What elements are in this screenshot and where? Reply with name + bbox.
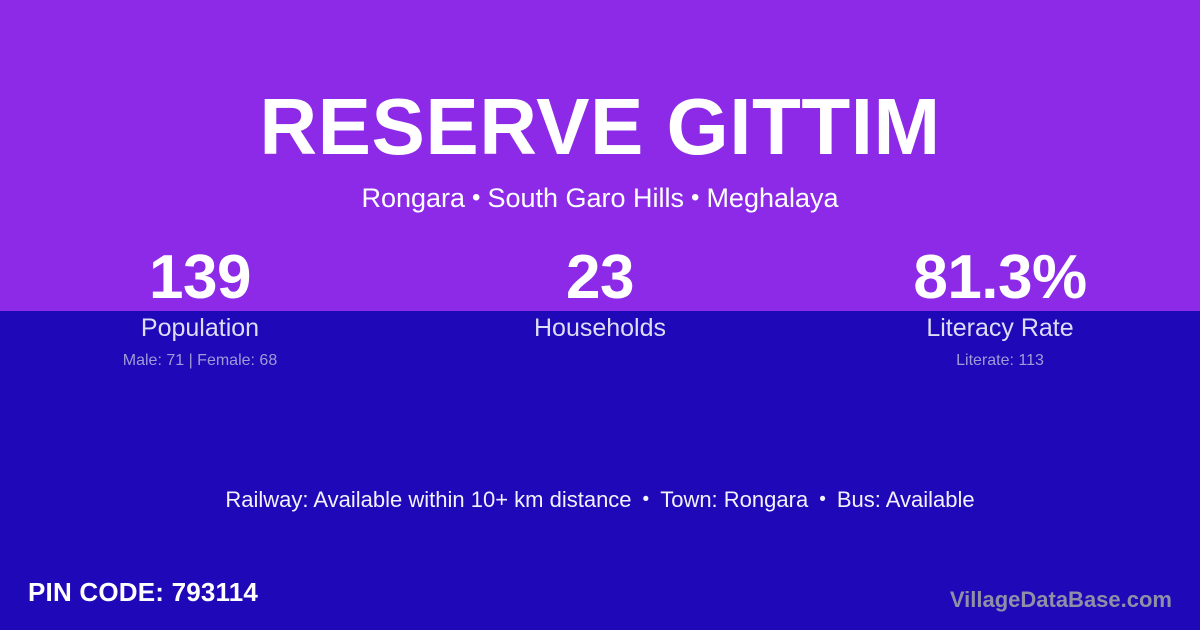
stat-population: 139 Population Male: 71 | Female: 68 <box>0 246 400 371</box>
facility-railway: Railway: Available within 10+ km distanc… <box>225 487 631 512</box>
stat-population-value: 139 <box>0 246 400 310</box>
brand-watermark: VillageDataBase.com <box>950 586 1172 614</box>
location-breadcrumb: Rongara•South Garo Hills•Meghalaya <box>0 181 1200 217</box>
stat-literacy: 81.3% Literacy Rate Literate: 113 <box>800 246 1200 371</box>
stat-population-label: Population <box>0 313 400 343</box>
stats-row: 139 Population Male: 71 | Female: 68 23 … <box>0 246 1200 371</box>
breadcrumb-district: South Garo Hills <box>487 183 684 213</box>
village-info-card: RESERVE GITTIM Rongara•South Garo Hills•… <box>0 0 1200 630</box>
page-title: RESERVE GITTIM <box>0 84 1200 170</box>
stat-households-detail <box>400 351 800 371</box>
stat-literacy-value: 81.3% <box>800 246 1200 310</box>
facilities-line: Railway: Available within 10+ km distanc… <box>0 486 1200 516</box>
stat-households: 23 Households <box>400 246 800 371</box>
pin-code: PIN CODE: 793114 <box>28 576 258 608</box>
breadcrumb-separator-2: • <box>684 184 706 211</box>
breadcrumb-state: Meghalaya <box>706 183 838 213</box>
facility-separator-2: • <box>808 489 837 510</box>
stat-population-detail: Male: 71 | Female: 68 <box>0 351 400 371</box>
facility-bus: Bus: Available <box>837 487 975 512</box>
breadcrumb-separator-1: • <box>465 184 487 211</box>
facility-separator-1: • <box>632 489 661 510</box>
facility-town: Town: Rongara <box>660 487 808 512</box>
stat-literacy-detail: Literate: 113 <box>800 351 1200 371</box>
stat-households-label: Households <box>400 313 800 343</box>
stat-literacy-label: Literacy Rate <box>800 313 1200 343</box>
stat-households-value: 23 <box>400 246 800 310</box>
breadcrumb-block: Rongara <box>361 183 465 213</box>
